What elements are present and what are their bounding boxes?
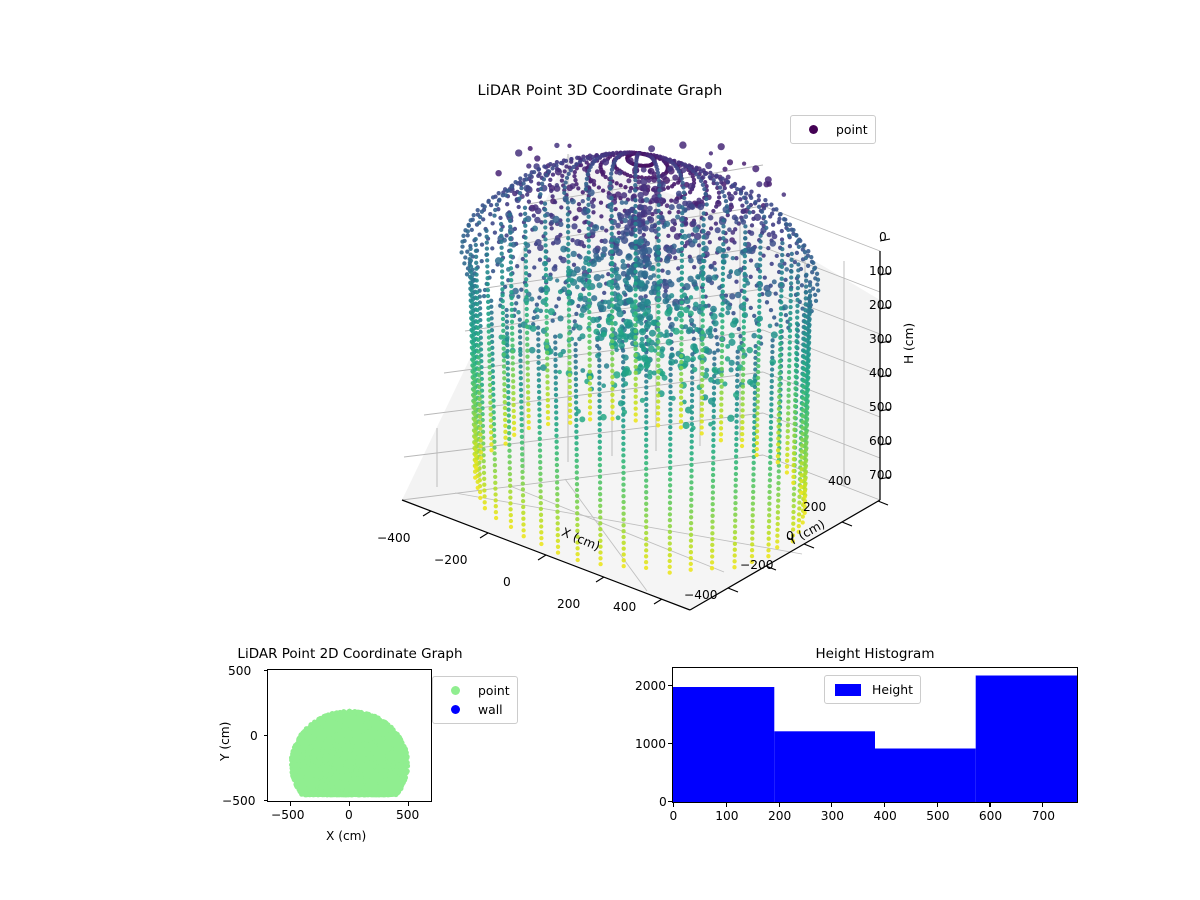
legend-item-height: Height [832,680,913,699]
chart-2d-title: LiDAR Point 2D Coordinate Graph [207,646,493,662]
tick-z-3d-4: 400 [869,366,892,380]
chart-3d-axes[interactable] [300,110,920,630]
tickmark-yh-0 [668,801,672,802]
tick-x-hist-300: 300 [821,809,844,823]
tickmark-x2d-neg500 [290,802,291,806]
legend-item-point: point [440,681,510,700]
tick-y-3d-1: −200 [740,558,773,572]
chart-3d-title: LiDAR Point 3D Coordinate Graph [0,83,1200,99]
legend-label: wall [470,702,503,717]
tick-y-2d-2: 500 [228,664,251,678]
tick-z-3d-1: 100 [869,264,892,278]
tickmark-xh-700 [1042,803,1043,807]
axis-label-x-2d: X (cm) [326,829,366,843]
tick-y-3d-3: 200 [803,500,826,514]
tickmark-xh-300 [831,803,832,807]
tick-y-3d-4: 400 [828,474,851,488]
legend-marker-patch-icon [832,684,864,696]
axis-label-y-2d: Y (cm) [218,722,232,761]
tickmark-y2d-0 [264,735,268,736]
tick-y-hist-2: 2000 [635,679,666,693]
tick-x-3d-0: −400 [377,531,410,545]
chart-2d-axes[interactable] [267,669,432,802]
tick-x-2d-0: −500 [271,808,304,822]
tick-z-3d-7: 700 [869,468,892,482]
tick-z-3d-6: 600 [869,434,892,448]
tick-x-3d-4: 400 [613,600,636,614]
tick-y-3d-0: −400 [684,588,717,602]
tickmark-xh-200 [779,803,780,807]
tick-y-2d-1: 0 [250,729,258,743]
legend-2d: point wall [432,676,518,724]
axis-label-z-3d: H (cm) [902,323,916,364]
tickmark-xh-600 [989,803,990,807]
tickmark-yh-1000 [668,743,672,744]
point-cloud-2d [289,709,410,798]
tickmark-yh-2000 [668,685,672,686]
tick-x-hist-400: 400 [874,809,897,823]
tick-z-3d-5: 500 [869,400,892,414]
tick-x-hist-700: 700 [1032,809,1055,823]
legend-marker-circle-icon [440,705,470,714]
tick-x-2d-1: 0 [345,808,353,822]
chart-3d-canvas [300,110,920,630]
tickmark-y2d-500 [264,670,268,671]
tick-z-3d-2: 200 [869,298,892,312]
tickmark-xh-400 [884,803,885,807]
legend-hist: Height [824,675,921,704]
tick-x-3d-3: 200 [557,597,580,611]
tick-x-hist-200: 200 [768,809,791,823]
legend-label: Height [864,682,913,697]
tickmark-xh-0 [673,803,674,807]
legend-label: point [470,683,510,698]
tickmark-xh-100 [726,803,727,807]
tick-x-hist-600: 600 [979,809,1002,823]
tick-x-hist-500: 500 [926,809,949,823]
tick-x-hist-0: 0 [670,809,678,823]
tick-y-hist-1: 1000 [635,737,666,751]
tick-x-hist-100: 100 [715,809,738,823]
figure-canvas: LiDAR Point 3D Coordinate Graph point [0,0,1200,900]
tick-y-hist-0: 0 [659,795,667,809]
tickmark-y2d-neg500 [264,800,268,801]
tick-z-3d-3: 300 [869,332,892,346]
tick-x-3d-1: −200 [434,553,467,567]
tick-z-3d-0: 0 [879,230,887,244]
tickmark-x2d-0 [349,802,350,806]
tickmark-xh-500 [937,803,938,807]
chart-hist-title: Height Histogram [732,646,1018,662]
chart-2d-canvas [268,670,431,801]
legend-item-wall: wall [440,700,510,719]
legend-marker-circle-icon [440,686,470,695]
tickmark-x2d-500 [408,802,409,806]
tick-x-2d-2: 500 [396,808,419,822]
tick-y-2d-0: −500 [222,794,255,808]
tick-x-3d-2: 0 [503,575,511,589]
